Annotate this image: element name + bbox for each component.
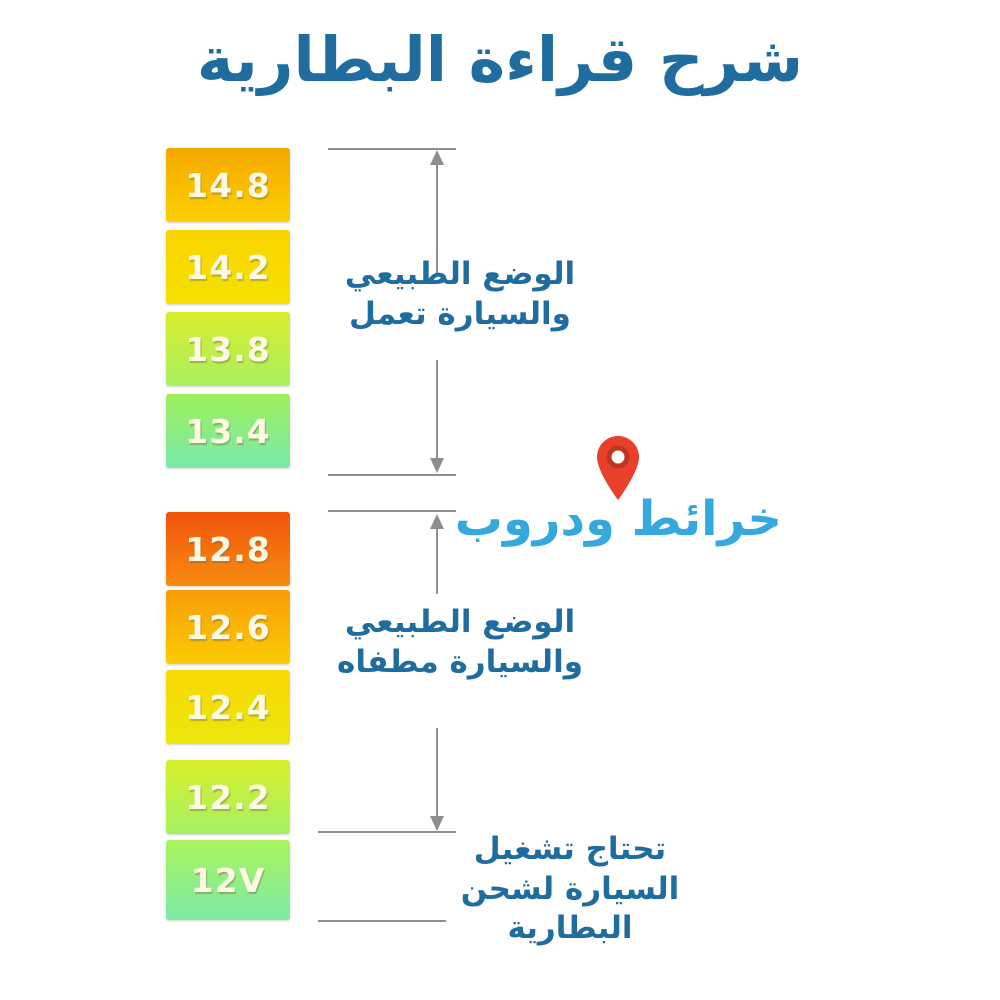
voltage-bar: 14.2 xyxy=(166,230,290,304)
voltage-bar-label: 12.8 xyxy=(185,530,270,569)
watermark-logo: خرائط ودروب xyxy=(492,435,782,565)
bracket-line-bottom-1 xyxy=(328,474,456,476)
annotation-normal-off: الوضع الطبيعي والسيارة مطفاه xyxy=(330,603,590,682)
annotation-normal-running: الوضع الطبيعي والسيارة تعمل xyxy=(330,255,590,334)
infographic-canvas: شرح قراءة البطارية 14.814.213.813.412.81… xyxy=(0,0,1000,1000)
arrow-stem-down-1 xyxy=(436,360,438,458)
voltage-bar: 13.8 xyxy=(166,312,290,386)
page-title: شرح قراءة البطارية xyxy=(0,26,1000,94)
voltage-bar-label: 12V xyxy=(191,861,265,900)
voltage-bar-label: 12.2 xyxy=(185,778,270,817)
voltage-bar: 12.2 xyxy=(166,760,290,834)
voltage-bar: 12.6 xyxy=(166,590,290,664)
arrow-up-2 xyxy=(430,514,444,529)
arrow-stem-up-2 xyxy=(436,528,438,594)
arrow-stem-down-3 xyxy=(436,728,438,816)
voltage-bar-label: 12.4 xyxy=(185,688,270,727)
voltage-bar-label: 14.2 xyxy=(185,248,270,287)
annotation-needs-charge: تحتاج تشغيل السيارة لشحن البطارية xyxy=(420,830,720,949)
voltage-bar: 14.8 xyxy=(166,148,290,222)
voltage-bar-label: 13.8 xyxy=(185,330,270,369)
voltage-bar: 13.4 xyxy=(166,394,290,468)
bracket-line-top-2 xyxy=(328,510,456,512)
arrow-up-1 xyxy=(430,150,444,165)
voltage-bar: 12.8 xyxy=(166,512,290,586)
arrow-down-3 xyxy=(430,816,444,831)
arrow-down-1 xyxy=(430,458,444,473)
voltage-bar-label: 12.6 xyxy=(185,608,270,647)
voltage-bar: 12.4 xyxy=(166,670,290,744)
voltage-bar-label: 14.8 xyxy=(185,166,270,205)
voltage-bar-label: 13.4 xyxy=(185,412,270,451)
voltage-bar: 12V xyxy=(166,840,290,920)
watermark-text: خرائط ودروب xyxy=(492,495,782,543)
